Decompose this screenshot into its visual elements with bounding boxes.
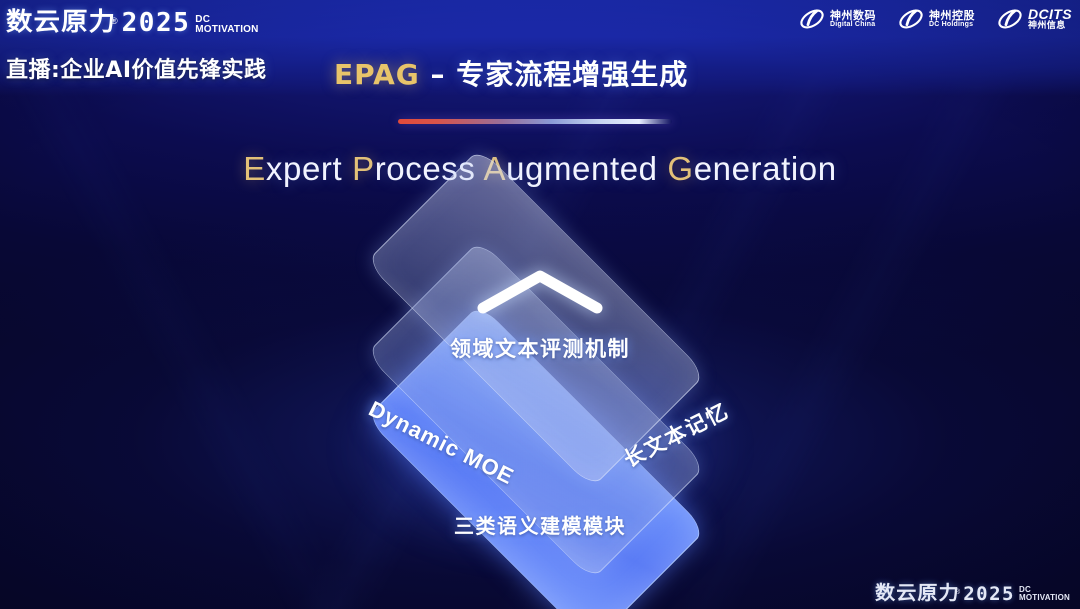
slide-title: EPAG – 专家流程增强生成 xyxy=(334,53,688,93)
logo-dcits: DCITS 神州信息 xyxy=(997,6,1072,32)
logo-label-cn: 神州信息 xyxy=(1028,22,1072,31)
logo-digital-china: 神州数码 Digital China xyxy=(799,6,876,32)
word-3-rest: ugmented xyxy=(506,150,658,187)
logo-dc-holdings: 神州控股 DC Holdings xyxy=(898,6,975,32)
logo-dc-holdings-text: 神州控股 DC Holdings xyxy=(929,10,975,29)
word-1-cap: E xyxy=(243,150,266,187)
swirl-logo-icon xyxy=(799,6,825,32)
slide-canvas: 数云原力 ® 2025 DC MOTIVATION 直播:企业AI价值先锋实践 … xyxy=(0,0,1080,609)
brand-year: 2025 xyxy=(122,8,191,38)
gradient-divider xyxy=(398,119,672,124)
footer-brand-dc-line2: MOTIVATION xyxy=(1019,594,1070,602)
brand-dc-motivation: DC MOTIVATION xyxy=(195,15,258,35)
word-4-rest: eneration xyxy=(694,150,837,187)
footer-registered-mark-icon: ® xyxy=(955,589,960,596)
brand-dc-line2: MOTIVATION xyxy=(195,25,258,35)
footer-brand-year: 2025 xyxy=(963,583,1015,605)
word-1-rest: xpert xyxy=(266,150,342,187)
slide-title-dash: – xyxy=(420,58,457,91)
partner-logos: 神州数码 Digital China 神州控股 DC Holdings xyxy=(799,6,1072,32)
brand-logo-bottom-right: 数云原力 ® 2025 DC MOTIVATION xyxy=(875,578,1070,605)
logo-digital-china-text: 神州数码 Digital China xyxy=(830,10,876,29)
logo-label-cn: 神州控股 xyxy=(929,10,975,22)
footer-brand-name-cn: 数云原力 xyxy=(875,578,960,605)
logo-label-en: DCITS xyxy=(1028,7,1072,22)
brand-logo-top-left: 数云原力 ® 2025 DC MOTIVATION xyxy=(6,2,259,38)
footer-brand-dc-motivation: DC MOTIVATION xyxy=(1019,586,1070,602)
word-4-cap: G xyxy=(667,150,693,187)
slide-title-cn: 专家流程增强生成 xyxy=(456,58,688,91)
word-3-cap: A xyxy=(483,150,506,187)
brand-name-cn: 数云原力 xyxy=(6,2,116,38)
logo-label-en: Digital China xyxy=(830,21,876,28)
livestream-subtitle: 直播:企业AI价值先锋实践 xyxy=(6,52,267,84)
registered-mark-icon: ® xyxy=(111,16,118,26)
word-2-rest: rocess xyxy=(375,150,476,187)
slide-title-acronym: EPAG xyxy=(334,58,420,91)
swirl-logo-icon xyxy=(997,6,1023,32)
slide-subtitle-english: Expert Process Augmented Generation xyxy=(0,150,1080,188)
logo-label-cn: 神州数码 xyxy=(830,10,876,22)
word-2-cap: P xyxy=(352,150,375,187)
logo-dcits-text: DCITS 神州信息 xyxy=(1028,7,1072,31)
logo-label-en: DC Holdings xyxy=(929,21,975,28)
swirl-logo-icon xyxy=(898,6,924,32)
